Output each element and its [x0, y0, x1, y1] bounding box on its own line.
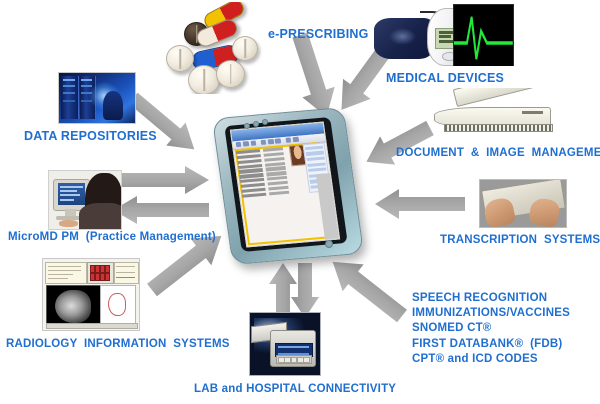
radiology-workstation-icon	[42, 258, 140, 331]
ecg-waveform-screen	[453, 4, 514, 66]
rad-pane-right	[114, 262, 139, 284]
server-rack-1	[61, 76, 79, 119]
label-immunizations-vaccines: IMMUNIZATIONS/VACCINES	[412, 306, 570, 321]
pills-icon	[158, 2, 273, 94]
clinical-content-text-block: SPEECH RECOGNITION IMMUNIZATIONS/VACCINE…	[412, 291, 570, 367]
arrow-micromd-to-center	[113, 166, 209, 194]
pm-user-shoulder	[79, 203, 122, 229]
scanner-lid	[453, 88, 553, 107]
tablet-button-3[interactable]	[262, 119, 268, 125]
arrow-transcription-to-center	[375, 189, 465, 219]
desktop-user-icon	[48, 170, 122, 230]
label-first-databank: FIRST DATABANK® (FDB)	[412, 337, 570, 352]
tablet-round-3	[216, 60, 245, 88]
pm-screen	[58, 183, 86, 205]
label-document-image-management: DOCUMENT & IMAGE MANAGEMENT	[396, 146, 600, 161]
label-transcription-systems: TRANSCRIPTION SYSTEMS	[440, 233, 600, 248]
arrow-clinical-content-to-center	[322, 248, 412, 329]
scanner-feed-tray	[444, 124, 553, 132]
tablet-round-1	[166, 45, 194, 72]
lab-keypad	[276, 355, 313, 364]
label-e-prescribing: e-PRESCRIBING	[268, 26, 369, 43]
blood-pressure-monitor-icon	[374, 4, 514, 66]
rad-mammogram-image	[46, 285, 102, 328]
label-speech-recognition: SPEECH RECOGNITION	[412, 291, 570, 306]
arrow-center-to-micromd	[113, 196, 209, 224]
tablet-round-2	[188, 65, 220, 94]
rad-pane-left	[45, 262, 87, 284]
lab-analyzer-icon	[249, 312, 321, 376]
label-micromd-pm: MicroMD PM (Practice Management)	[8, 230, 216, 245]
label-medical-devices: MEDICAL DEVICES	[386, 70, 504, 87]
tablet-home-button[interactable]	[325, 240, 333, 248]
server-technician	[103, 91, 123, 120]
label-radiology-information-systems: RADIOLOGY INFORMATION SYSTEMS	[6, 337, 230, 352]
tablet-screen[interactable]	[230, 122, 341, 248]
rad-toolbar	[46, 323, 138, 329]
tablet-round-4	[232, 36, 258, 61]
tablet-button-1[interactable]	[244, 123, 250, 129]
tablet-pc-emr[interactable]	[222, 112, 354, 260]
label-cpt-icd-codes: CPT® and ICD CODES	[412, 352, 570, 367]
pm-user-hand	[59, 220, 78, 228]
rad-annotation-pane	[100, 285, 137, 328]
ehr-connectivity-diagram: e-PRESCRIBING MEDICAL DEVICES DOCUMENT &…	[0, 0, 600, 404]
keyboard-hands-icon	[479, 179, 567, 228]
label-data-repositories: DATA REPOSITORIES	[24, 128, 157, 145]
label-snomed-ct: SNOMED CT®	[412, 321, 570, 336]
server-room-icon	[58, 72, 136, 124]
tablet-button-2[interactable]	[253, 121, 259, 127]
arrow-center-to-lab-down	[291, 263, 319, 318]
lab-analyzer-body	[270, 330, 315, 367]
emr-patient-data-list	[236, 147, 296, 212]
arrow-lab-to-center-up	[269, 263, 297, 318]
rad-button-grid	[87, 262, 114, 284]
scanner-icon	[432, 88, 556, 134]
label-lab-hospital-connectivity: LAB and HOSPITAL CONNECTIVITY	[194, 382, 396, 397]
arrow-document-image-to-center	[359, 114, 438, 176]
